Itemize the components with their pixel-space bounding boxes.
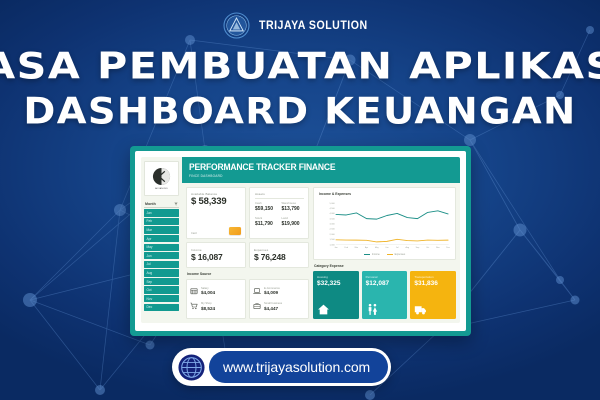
globe-icon-wrap bbox=[175, 351, 207, 383]
balance-amount: 58,339 bbox=[199, 196, 227, 207]
chart-title: Income & Expenses bbox=[319, 192, 450, 196]
headline-line-1: JASA PEMBUATAN APLIKASI bbox=[0, 49, 600, 86]
legend-item-income: Income bbox=[364, 253, 380, 256]
asset-item: Warehouse $13,790 bbox=[282, 202, 305, 212]
dashboard-logo-text: ADVANCED bbox=[155, 188, 168, 190]
chart-x-axis-labels: JanFebMarAprMayJunJulAugSepOctNovDec bbox=[334, 246, 449, 249]
source-item: Small business $4,447 bbox=[253, 302, 305, 311]
brand-name: TRIJAYA SOLUTION bbox=[259, 20, 368, 32]
expense-amount: 76,248 bbox=[261, 252, 286, 262]
source-item: Salary $4,004 bbox=[190, 287, 242, 296]
legend-item-expenses: Expenses bbox=[387, 253, 406, 256]
source-text: Salary $4,004 bbox=[201, 287, 215, 296]
source-amount: $8,524 bbox=[201, 306, 215, 311]
asset-label: Stock bbox=[255, 217, 278, 220]
asset-item: Cash $59,150 bbox=[255, 202, 278, 212]
expense-value: $ 76,248 bbox=[254, 252, 304, 262]
month-item[interactable]: Mar bbox=[144, 226, 179, 233]
source-text: My Shop $8,524 bbox=[201, 302, 215, 311]
headline-block: JASA PEMBUATAN APLIKASI DASHBOARD KEUANG… bbox=[0, 50, 600, 130]
balance-currency: $ bbox=[191, 196, 196, 207]
headline-line-2: DASHBOARD KEUANGAN bbox=[0, 94, 600, 131]
source-item: E-Commerce $4,009 bbox=[253, 287, 305, 296]
income-expenses-chart-card: Income & Expenses 1,0001,5002,0002,5003,… bbox=[313, 187, 456, 261]
filter-icon[interactable] bbox=[174, 202, 178, 206]
balance-account-label: Card bbox=[191, 232, 197, 235]
chart-series-income bbox=[336, 210, 448, 218]
dashboard-left-column: Available Balance $ 58,339 Card bbox=[186, 187, 309, 320]
source-amount: $4,009 bbox=[264, 290, 280, 295]
chart-series-expenses bbox=[336, 239, 448, 242]
income-currency: $ bbox=[191, 252, 196, 262]
globe-icon bbox=[177, 353, 206, 382]
income-kpi-card: Income $ 16,087 bbox=[186, 242, 246, 268]
category-card-personal[interactable]: Personal $12,087 bbox=[362, 271, 408, 319]
house-icon bbox=[317, 303, 330, 316]
svg-text:Feb: Feb bbox=[344, 247, 347, 249]
svg-text:4,000: 4,000 bbox=[329, 213, 335, 215]
monogram-k-icon bbox=[152, 167, 171, 186]
legend-swatch bbox=[364, 254, 370, 255]
income-source-row: Salary $4,004 bbox=[186, 279, 309, 320]
category-value: $31,836 bbox=[414, 280, 452, 287]
svg-text:Nov: Nov bbox=[436, 247, 440, 249]
dashboard-right-column: Income & Expenses 1,0001,5002,0002,5003,… bbox=[313, 187, 456, 320]
chart-legend: Income Expenses bbox=[319, 253, 450, 256]
income-expenses-line-chart: 1,0001,5002,0002,5003,0003,5004,0004,500… bbox=[319, 197, 450, 253]
category-name: Transportation bbox=[414, 275, 452, 279]
dashboard-header: PERFORMANCE TRACKER FINANCE FINCE DASHBO… bbox=[182, 157, 460, 183]
month-item[interactable]: Aug bbox=[144, 269, 179, 276]
asset-value: $19,900 bbox=[282, 221, 305, 227]
income-source-section-label: Income Source bbox=[186, 271, 309, 276]
svg-text:3,000: 3,000 bbox=[329, 223, 335, 225]
month-item[interactable]: Jun bbox=[144, 252, 179, 259]
svg-text:Dec: Dec bbox=[446, 247, 450, 249]
category-expense-section-label: Category Expense bbox=[313, 263, 456, 268]
brand-header: TRIJAYA SOLUTION bbox=[0, 12, 600, 39]
category-value: $32,325 bbox=[317, 280, 355, 287]
dashboard-subtitle: FINCE DASHBOARD bbox=[189, 174, 460, 178]
svg-text:Jan: Jan bbox=[334, 247, 337, 249]
credit-card-icon bbox=[229, 227, 241, 235]
asset-value: $59,150 bbox=[255, 206, 278, 212]
asset-item: Land $19,900 bbox=[282, 217, 305, 227]
calendar-icon bbox=[190, 287, 198, 295]
expense-currency: $ bbox=[254, 252, 259, 262]
category-expense-row: Housing $32,325 Personal $12 bbox=[313, 271, 456, 319]
dashboard-main: PERFORMANCE TRACKER FINANCE FINCE DASHBO… bbox=[182, 157, 460, 323]
svg-text:5,000: 5,000 bbox=[329, 202, 335, 204]
source-text: E-Commerce $4,009 bbox=[264, 287, 280, 296]
source-amount: $4,447 bbox=[264, 306, 282, 311]
month-item[interactable]: May bbox=[144, 244, 179, 251]
svg-text:1,000: 1,000 bbox=[329, 244, 335, 246]
briefcase-icon bbox=[253, 302, 261, 310]
svg-text:2,000: 2,000 bbox=[329, 233, 335, 235]
website-url: www.trijayasolution.com bbox=[223, 359, 370, 375]
month-item[interactable]: Dec bbox=[144, 304, 179, 311]
svg-text:Oct: Oct bbox=[426, 246, 430, 249]
legend-label: Income bbox=[372, 253, 380, 256]
category-value: $12,087 bbox=[366, 280, 404, 287]
svg-text:Jul: Jul bbox=[396, 247, 399, 249]
dashboard-screen: ADVANCED Month Jan Feb Mar Apr May Jun J… bbox=[135, 151, 466, 331]
month-item[interactable]: Sep bbox=[144, 278, 179, 285]
category-card-transportation[interactable]: Transportation $31,836 bbox=[410, 271, 456, 319]
month-filter-header[interactable]: Month bbox=[144, 202, 179, 208]
chart-y-axis-labels: 1,0001,5002,0002,5003,0003,5004,0004,500… bbox=[329, 202, 335, 245]
month-item[interactable]: Jan bbox=[144, 209, 179, 216]
income-source-card-left: Salary $4,004 bbox=[186, 279, 246, 320]
svg-text:3,500: 3,500 bbox=[329, 218, 335, 220]
month-item[interactable]: Nov bbox=[144, 295, 179, 302]
source-text: Small business $4,447 bbox=[264, 302, 282, 311]
month-item[interactable]: Jul bbox=[144, 261, 179, 268]
dashboard-body: Available Balance $ 58,339 Card bbox=[182, 183, 460, 324]
source-name: Small business bbox=[264, 302, 282, 305]
month-item[interactable]: Oct bbox=[144, 286, 179, 293]
available-balance-card: Available Balance $ 58,339 Card bbox=[186, 187, 246, 239]
spacer bbox=[191, 207, 241, 228]
svg-text:4,500: 4,500 bbox=[329, 208, 335, 210]
website-footer-pill[interactable]: www.trijayasolution.com bbox=[172, 348, 391, 386]
svg-text:Jun: Jun bbox=[385, 247, 388, 249]
dashboard-content: ADVANCED Month Jan Feb Mar Apr May Jun J… bbox=[141, 157, 460, 323]
dashboard-logo: ADVANCED bbox=[144, 161, 179, 196]
asset-label: Warehouse bbox=[282, 202, 305, 205]
income-amount: 16,087 bbox=[198, 252, 223, 262]
balance-footer: Card bbox=[191, 227, 241, 235]
balance-assets-row: Available Balance $ 58,339 Card bbox=[186, 187, 309, 239]
asset-item: Stock $11,790 bbox=[255, 217, 278, 227]
svg-text:Sep: Sep bbox=[416, 247, 420, 249]
legend-label: Expenses bbox=[395, 253, 406, 256]
svg-text:Apr: Apr bbox=[365, 246, 369, 249]
month-filter-label: Month bbox=[145, 202, 156, 206]
svg-text:1,500: 1,500 bbox=[329, 239, 335, 241]
asset-value: $13,790 bbox=[282, 206, 305, 212]
category-name: Personal bbox=[366, 275, 404, 279]
svg-text:2,500: 2,500 bbox=[329, 228, 335, 230]
triangle-badge-icon bbox=[223, 12, 250, 39]
cart-icon bbox=[190, 302, 198, 310]
svg-text:May: May bbox=[375, 247, 379, 249]
category-card-housing[interactable]: Housing $32,325 bbox=[313, 271, 359, 319]
month-item[interactable]: Apr bbox=[144, 235, 179, 242]
category-name: Housing bbox=[317, 275, 355, 279]
income-expense-row: Income $ 16,087 Expenses $ 76,2 bbox=[186, 242, 309, 268]
assets-grid: Cash $59,150 Warehouse $13,790 Stock bbox=[255, 202, 304, 227]
income-value: $ 16,087 bbox=[191, 252, 241, 262]
divider bbox=[255, 198, 304, 199]
asset-label: Land bbox=[282, 217, 305, 220]
income-source-card-right: E-Commerce $4,009 bbox=[249, 279, 309, 320]
svg-text:Aug: Aug bbox=[406, 246, 410, 249]
asset-label: Cash bbox=[255, 202, 278, 205]
svg-text:Mar: Mar bbox=[355, 246, 359, 249]
truck-icon bbox=[414, 303, 427, 316]
dashboard-screenshot-frame: ADVANCED Month Jan Feb Mar Apr May Jun J… bbox=[130, 146, 471, 336]
dashboard-sidebar: ADVANCED Month Jan Feb Mar Apr May Jun J… bbox=[141, 157, 182, 323]
website-url-pill[interactable]: www.trijayasolution.com bbox=[209, 351, 388, 383]
source-amount: $4,004 bbox=[201, 290, 215, 295]
source-item: My Shop $8,524 bbox=[190, 302, 242, 311]
expense-kpi-card: Expenses $ 76,248 bbox=[249, 242, 309, 268]
people-icon bbox=[366, 303, 379, 316]
category-text: Housing $32,325 bbox=[317, 275, 355, 287]
dashboard-title: PERFORMANCE TRACKER FINANCE bbox=[189, 162, 446, 172]
legend-swatch bbox=[387, 254, 393, 255]
balance-value: $ 58,339 bbox=[191, 196, 241, 207]
assets-card: Assets Cash $59,150 Warehouse bbox=[249, 187, 309, 239]
laptop-icon bbox=[253, 287, 261, 295]
assets-label: Assets bbox=[255, 192, 304, 196]
category-text: Personal $12,087 bbox=[366, 275, 404, 287]
asset-value: $11,790 bbox=[255, 221, 278, 227]
category-text: Transportation $31,836 bbox=[414, 275, 452, 287]
month-item[interactable]: Feb bbox=[144, 218, 179, 225]
